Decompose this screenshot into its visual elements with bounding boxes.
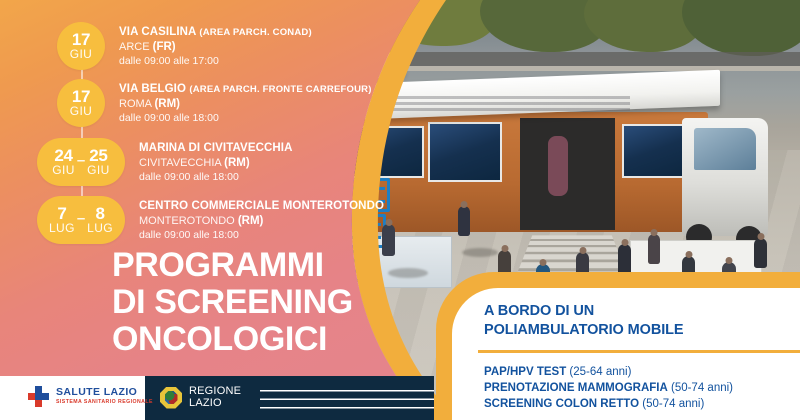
event-date-badge: 17 GIU: [57, 22, 105, 70]
title-line-1: PROGRAMMI: [112, 247, 353, 284]
service-ages: (50-74 anni): [671, 382, 733, 394]
event-day: 24: [54, 148, 72, 164]
event-item: 24 GIU – 25 GIU MARINA DI CIVITAVECCHIA …: [37, 138, 293, 186]
service-item: PAP/HPV TEST (25-64 anni): [484, 364, 800, 380]
event-date-start: 24 GIU: [52, 148, 75, 176]
event-place-line: CENTRO COMMERCIALE MONTEROTONDO: [139, 199, 384, 214]
event-city-line: ARCE (FR): [119, 40, 312, 54]
event-item: 7 LUG – 8 LUG CENTRO COMMERCIALE MONTERO…: [37, 196, 384, 244]
event-place: CENTRO COMMERCIALE MONTEROTONDO: [139, 200, 384, 212]
service-ages: (25-64 anni): [569, 366, 631, 378]
events-timeline: 17 GIU VIA CASILINA (AREA PARCH. CONAD) …: [0, 0, 430, 250]
info-heading: A BORDO DI UN POLIAMBULATORIO MOBILE: [452, 288, 800, 340]
event-details: VIA CASILINA (AREA PARCH. CONAD) ARCE (F…: [119, 22, 312, 68]
event-date-end: 25 GIU: [87, 148, 110, 176]
service-item: PRENOTAZIONE MAMMOGRAFIA (50-74 anni): [484, 380, 800, 396]
title-line-2: DI SCREENING: [112, 284, 353, 321]
regione-line-1: REGIONE: [189, 386, 241, 398]
event-details: VIA BELGIO (AREA PARCH. FRONTE CARREFOUR…: [119, 79, 372, 125]
salute-lazio-logo: SALUTE LAZIO SISTEMA SANITARIO REGIONALE: [28, 386, 153, 407]
service-name: PAP/HPV TEST: [484, 366, 566, 378]
info-panel: A BORDO DI UN POLIAMBULATORIO MOBILE PAP…: [452, 288, 800, 420]
event-date-start: 7 LUG: [49, 206, 75, 234]
event-date-badge: 7 LUG – 8 LUG: [37, 196, 125, 244]
page-title: PROGRAMMI DI SCREENING ONCOLOGICI: [112, 247, 353, 358]
cab-windshield: [694, 128, 756, 170]
event-date-badge: 17 GIU: [57, 79, 105, 127]
services-list: PAP/HPV TEST (25-64 anni) PRENOTAZIONE M…: [452, 353, 800, 412]
event-details: MARINA DI CIVITAVECCHIA CIVITAVECCHIA (R…: [139, 138, 293, 184]
event-date-end: 8 LUG: [87, 206, 113, 234]
event-place-line: MARINA DI CIVITAVECCHIA: [139, 141, 293, 156]
event-date-badge: 24 GIU – 25 GIU: [37, 138, 125, 186]
regione-line-2: LAZIO: [189, 398, 241, 410]
event-city-line: MONTEROTONDO (RM): [139, 214, 384, 228]
event-city-line: ROMA (RM): [119, 97, 372, 111]
footer-bar: SALUTE LAZIO SISTEMA SANITARIO REGIONALE…: [0, 376, 434, 420]
service-name: PRENOTAZIONE MAMMOGRAFIA: [484, 382, 668, 394]
event-item: 17 GIU VIA BELGIO (AREA PARCH. FRONTE CA…: [57, 79, 372, 127]
regione-emblem-icon: [160, 387, 182, 409]
event-month: GIU: [70, 48, 93, 60]
truck-window: [622, 124, 684, 178]
event-province: (RM): [238, 215, 264, 227]
event-item: 17 GIU VIA CASILINA (AREA PARCH. CONAD) …: [57, 22, 312, 70]
poster: 17 GIU VIA CASILINA (AREA PARCH. CONAD) …: [0, 0, 800, 420]
event-day: 8: [96, 206, 105, 222]
medical-cross-icon: [28, 386, 49, 407]
event-month: GIU: [87, 164, 110, 176]
truck-doorway: [520, 118, 615, 230]
event-province: (FR): [153, 41, 176, 53]
service-ages: (50-74 anni): [642, 398, 704, 410]
event-city: ROMA: [119, 98, 151, 110]
salute-lazio-text: SALUTE LAZIO SISTEMA SANITARIO REGIONALE: [56, 387, 153, 406]
event-city: CIVITAVECCHIA: [139, 157, 221, 169]
event-province: (RM): [224, 157, 250, 169]
person: [648, 234, 660, 264]
event-day: 7: [57, 206, 66, 222]
title-line-3: ONCOLOGICI: [112, 321, 353, 358]
event-province: (RM): [154, 98, 180, 110]
service-name: SCREENING COLON RETTO: [484, 398, 639, 410]
entrance-steps: [517, 235, 626, 272]
event-month: GIU: [52, 164, 75, 176]
event-month: LUG: [49, 222, 75, 234]
regione-lazio-text: REGIONE LAZIO: [189, 386, 241, 409]
event-city: MONTEROTONDO: [139, 215, 235, 227]
event-place: VIA BELGIO: [119, 83, 186, 95]
event-details: CENTRO COMMERCIALE MONTEROTONDO MONTEROT…: [139, 196, 384, 242]
event-place: MARINA DI CIVITAVECCHIA: [139, 142, 293, 154]
event-place-line: VIA CASILINA (AREA PARCH. CONAD): [119, 25, 312, 40]
event-city-line: CIVITAVECCHIA (RM): [139, 156, 293, 170]
event-day: 17: [72, 32, 90, 48]
event-place-line: VIA BELGIO (AREA PARCH. FRONTE CARREFOUR…: [119, 82, 372, 97]
info-heading-line-2: POLIAMBULATORIO MOBILE: [484, 321, 800, 340]
event-place-note: (AREA PARCH. CONAD): [199, 27, 312, 38]
event-place: VIA CASILINA: [119, 26, 196, 38]
event-date-separator: –: [77, 154, 85, 168]
regione-lazio-logo: REGIONE LAZIO: [160, 386, 241, 409]
event-place-note: (AREA PARCH. FRONTE CARREFOUR): [189, 84, 371, 95]
event-hours: dalle 09:00 alle 18:00: [139, 228, 384, 242]
info-heading-line-1: A BORDO DI UN: [484, 302, 800, 321]
event-day: 17: [72, 89, 90, 105]
event-city: ARCE: [119, 41, 150, 53]
salute-subtitle: SISTEMA SANITARIO REGIONALE: [56, 398, 153, 406]
event-month: LUG: [87, 222, 113, 234]
event-hours: dalle 09:00 alle 18:00: [119, 111, 372, 125]
service-item: SCREENING COLON RETTO (50-74 anni): [484, 396, 800, 412]
event-day: 25: [89, 148, 107, 164]
event-date-separator: –: [77, 212, 85, 226]
event-hours: dalle 09:00 alle 18:00: [139, 170, 293, 184]
event-hours: dalle 09:00 alle 17:00: [119, 54, 312, 68]
event-month: GIU: [70, 105, 93, 117]
salute-title: SALUTE LAZIO: [56, 387, 153, 398]
footer-stripes: [260, 383, 434, 413]
person: [754, 238, 767, 268]
